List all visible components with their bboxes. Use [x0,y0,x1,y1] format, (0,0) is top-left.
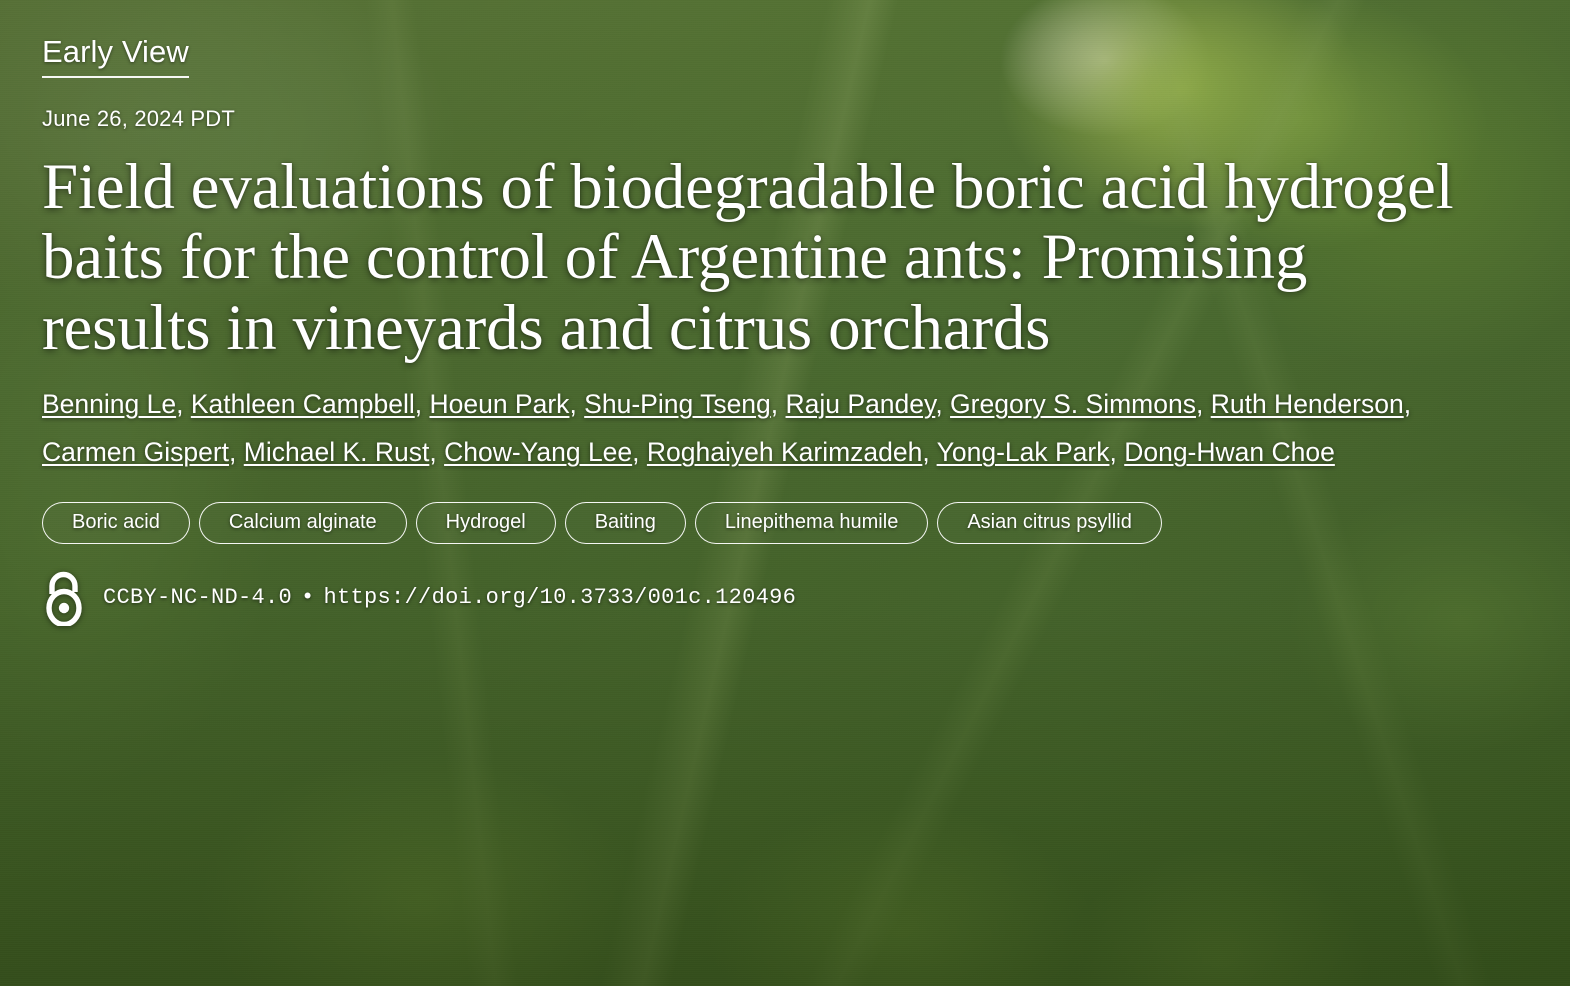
author-link[interactable]: Benning Le [42,389,176,419]
author-separator: , [1109,437,1124,467]
author-separator: , [771,389,786,419]
keyword-pill[interactable]: Hydrogel [416,502,556,544]
license-label: CCBY-NC-ND-4.0 [103,585,292,610]
keyword-pill[interactable]: Linepithema humile [695,502,928,544]
keyword-pill[interactable]: Asian citrus psyllid [937,502,1162,544]
author-link[interactable]: Roghaiyeh Karimzadeh [647,437,922,467]
author-separator: , [1404,389,1411,419]
author-separator: , [1196,389,1211,419]
article-hero-banner: Early View June 26, 2024 PDT Field evalu… [0,0,1570,986]
keyword-pill[interactable]: Baiting [565,502,686,544]
author-list: Benning Le, Kathleen Campbell, Hoeun Par… [42,380,1512,476]
author-link[interactable]: Yong-Lak Park [937,437,1110,467]
author-link[interactable]: Gregory S. Simmons [950,389,1196,419]
author-separator: , [569,389,584,419]
author-link[interactable]: Chow-Yang Lee [444,437,632,467]
author-separator: , [922,437,936,467]
author-link[interactable]: Raju Pandey [786,389,936,419]
author-link[interactable]: Ruth Henderson [1211,389,1404,419]
publication-date: June 26, 2024 PDT [42,106,1530,132]
keyword-pill[interactable]: Calcium alginate [199,502,407,544]
author-separator: , [229,437,244,467]
author-separator: , [429,437,444,467]
author-link[interactable]: Hoeun Park [429,389,569,419]
keyword-pill[interactable]: Boric acid [42,502,190,544]
doi-link[interactable]: https://doi.org/10.3733/001c.120496 [324,585,797,610]
author-link[interactable]: Dong-Hwan Choe [1124,437,1335,467]
article-title: Field evaluations of biodegradable boric… [42,152,1490,365]
keyword-list: Boric acidCalcium alginateHydrogelBaitin… [42,502,1530,544]
hero-content: Early View June 26, 2024 PDT Field evalu… [0,0,1570,986]
license-separator: • [292,585,324,610]
author-link[interactable]: Kathleen Campbell [191,389,415,419]
author-separator: , [176,389,191,419]
early-view-badge: Early View [42,36,189,78]
license-and-doi: CCBY-NC-ND-4.0•https://doi.org/10.3733/0… [103,585,796,610]
license-row: CCBY-NC-ND-4.0•https://doi.org/10.3733/0… [42,570,1530,626]
open-access-icon [42,570,86,626]
author-separator: , [415,389,430,419]
author-separator: , [632,437,647,467]
author-link[interactable]: Carmen Gispert [42,437,229,467]
author-link[interactable]: Michael K. Rust [244,437,430,467]
author-separator: , [935,389,950,419]
author-link[interactable]: Shu-Ping Tseng [584,389,771,419]
